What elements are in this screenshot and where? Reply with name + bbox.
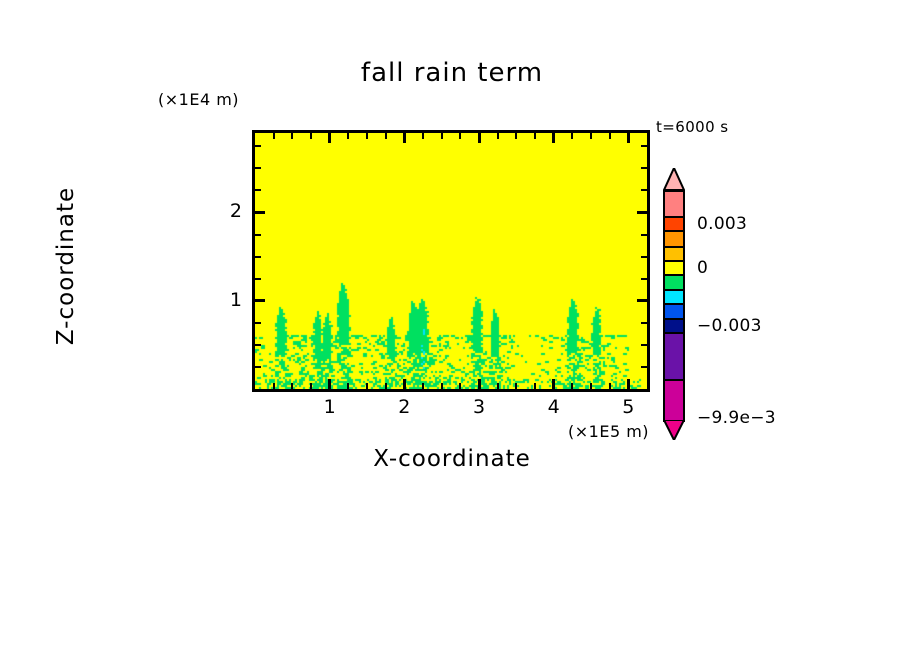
colorbar-band-divider <box>663 379 685 381</box>
x-tick-label: 4 <box>539 396 569 418</box>
axis-tick <box>441 133 443 139</box>
colorbar-band-divider <box>663 230 685 232</box>
colorbar-band-divider <box>663 216 685 218</box>
axis-tick <box>590 133 592 139</box>
axis-tick <box>328 379 331 389</box>
axis-tick <box>255 344 261 346</box>
colorbar-band-divider <box>663 318 685 320</box>
colorbar-tick-label: 0 <box>697 258 708 278</box>
axis-tick <box>422 383 424 389</box>
colorbar-band-divider <box>663 303 685 305</box>
colorbar-band <box>663 216 685 230</box>
axis-tick <box>441 383 443 389</box>
axis-tick <box>515 383 517 389</box>
axis-tick <box>422 133 424 139</box>
axis-tick <box>641 167 647 169</box>
x-axis-title: X-coordinate <box>0 446 904 472</box>
axis-tick <box>459 383 461 389</box>
axis-tick <box>478 133 481 143</box>
colorbar-band-divider <box>663 260 685 262</box>
axis-tick <box>403 379 406 389</box>
colorbar-band <box>663 318 685 332</box>
axis-tick <box>627 379 630 389</box>
colorbar: 0.0030−0.003−9.9e−3 <box>663 168 685 406</box>
axis-tick <box>641 344 647 346</box>
axis-tick <box>347 383 349 389</box>
colorbar-band-divider <box>663 190 685 192</box>
axis-tick <box>255 145 261 147</box>
axis-tick <box>366 383 368 389</box>
colorbar-band-divider <box>663 332 685 334</box>
colorbar-tick-label: 0.003 <box>697 214 747 234</box>
axis-tick <box>255 189 261 191</box>
axis-tick <box>552 133 555 143</box>
y-axis-unit-label: (×1E4 m) <box>158 90 239 109</box>
colorbar-band <box>663 190 685 216</box>
y-axis-title: Z-coordinate <box>53 136 79 396</box>
axis-tick <box>459 133 461 139</box>
axis-tick <box>641 322 647 324</box>
colorbar-tick-label: −0.003 <box>697 316 762 336</box>
y-tick-label: 2 <box>216 200 242 222</box>
axis-tick <box>385 133 387 139</box>
colorbar-band-divider <box>663 274 685 276</box>
heatmap-field <box>255 133 647 389</box>
axis-tick <box>291 383 293 389</box>
axis-tick <box>641 145 647 147</box>
page-title: fall rain term <box>0 58 904 88</box>
axis-tick <box>637 299 647 302</box>
x-tick-label: 5 <box>613 396 643 418</box>
colorbar-over-arrow <box>663 168 685 190</box>
axis-tick <box>328 133 331 143</box>
colorbar-band-divider <box>663 289 685 291</box>
axis-tick <box>641 256 647 258</box>
axis-tick <box>534 383 536 389</box>
colorbar-band <box>663 303 685 318</box>
x-tick-label: 3 <box>464 396 494 418</box>
axis-tick <box>255 256 261 258</box>
axis-tick <box>641 189 647 191</box>
axis-tick <box>637 211 647 214</box>
axis-tick <box>571 133 573 139</box>
axis-tick <box>310 383 312 389</box>
plot-frame <box>252 130 650 392</box>
x-tick-label: 2 <box>389 396 419 418</box>
colorbar-band <box>663 289 685 303</box>
plot-area <box>252 130 650 392</box>
axis-tick <box>609 133 611 139</box>
axis-tick <box>609 383 611 389</box>
axis-tick <box>641 278 647 280</box>
axis-tick <box>310 133 312 139</box>
x-axis-unit-label: (×1E5 m) <box>568 422 649 441</box>
axis-tick <box>255 167 261 169</box>
axis-tick <box>255 366 261 368</box>
colorbar-band <box>663 246 685 260</box>
time-annotation: t=6000 s <box>656 118 728 136</box>
axis-tick <box>347 133 349 139</box>
colorbar-band-divider <box>663 246 685 248</box>
axis-tick <box>515 133 517 139</box>
colorbar-under-arrow <box>663 420 685 440</box>
axis-tick <box>627 133 630 143</box>
colorbar-band <box>663 332 685 379</box>
colorbar-band <box>663 230 685 246</box>
axis-tick <box>255 278 261 280</box>
axis-tick <box>497 383 499 389</box>
axis-tick <box>273 133 275 139</box>
axis-tick <box>255 299 265 302</box>
y-tick-label: 1 <box>216 289 242 311</box>
axis-tick <box>641 234 647 236</box>
axis-tick <box>403 133 406 143</box>
axis-tick <box>255 211 265 214</box>
axis-tick <box>478 379 481 389</box>
axis-tick <box>366 133 368 139</box>
axis-tick <box>255 234 261 236</box>
colorbar-band <box>663 260 685 274</box>
axis-tick <box>497 133 499 139</box>
axis-tick <box>291 133 293 139</box>
colorbar-band <box>663 379 685 420</box>
axis-tick <box>571 383 573 389</box>
axis-tick <box>385 383 387 389</box>
x-tick-label: 1 <box>315 396 345 418</box>
axis-tick <box>534 133 536 139</box>
axis-tick <box>552 379 555 389</box>
colorbar-tick-label: −9.9e−3 <box>697 408 776 428</box>
axis-tick <box>255 322 261 324</box>
axis-tick <box>641 366 647 368</box>
axis-tick <box>273 383 275 389</box>
colorbar-band <box>663 274 685 289</box>
axis-tick <box>590 383 592 389</box>
